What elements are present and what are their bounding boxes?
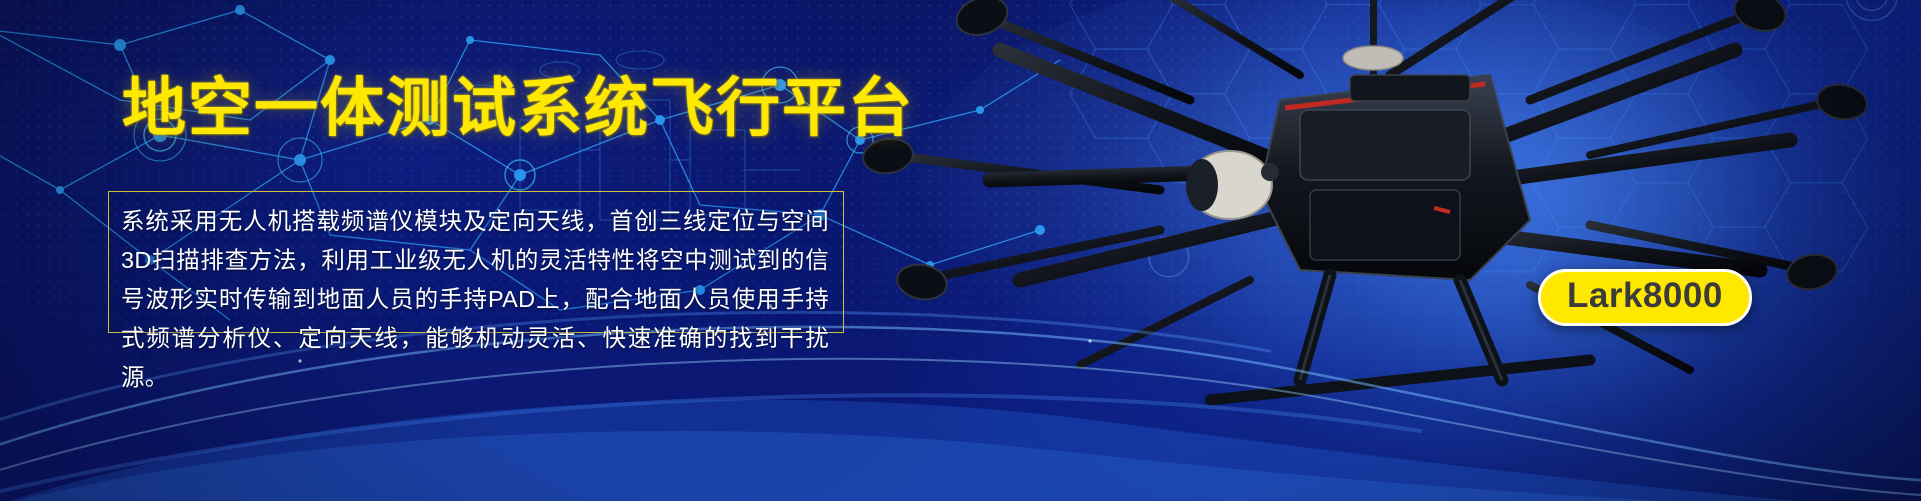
description-text: 系统采用无人机搭载频谱仪模块及定向天线，首创三线定位与空间3D扫描排查方法，利用… xyxy=(109,192,843,397)
description-box: 系统采用无人机搭载频谱仪模块及定向天线，首创三线定位与空间3D扫描排查方法，利用… xyxy=(108,191,844,333)
page-title: 地空一体测试系统飞行平台 xyxy=(122,76,914,140)
product-model-badge: Lark8000 xyxy=(1538,269,1752,326)
hexacopter-drone-icon xyxy=(830,0,1920,410)
promo-banner: 地空一体测试系统飞行平台 系统采用无人机搭载频谱仪模块及定向天线，首创三线定位与… xyxy=(0,0,1921,501)
